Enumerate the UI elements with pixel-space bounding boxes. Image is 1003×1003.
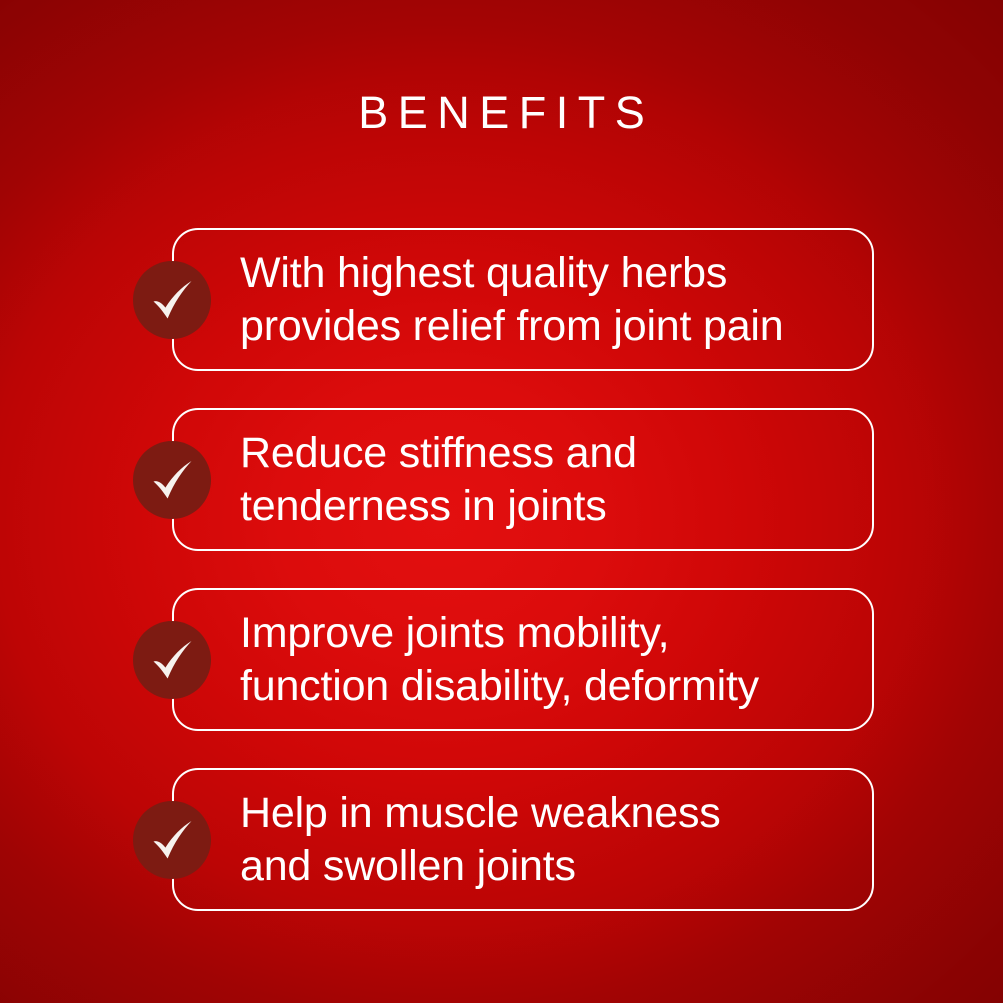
benefit-text: Reduce stiffness and tenderness in joint… bbox=[240, 427, 856, 533]
check-icon bbox=[133, 441, 211, 519]
check-icon bbox=[133, 261, 211, 339]
benefit-text: With highest quality herbs provides reli… bbox=[240, 247, 856, 353]
benefits-list: With highest quality herbs provides reli… bbox=[172, 228, 874, 911]
check-icon bbox=[133, 801, 211, 879]
list-item: With highest quality herbs provides reli… bbox=[172, 228, 874, 371]
benefits-poster: BENEFITS With highest quality herbs prov… bbox=[0, 0, 1003, 1003]
benefit-text: Help in muscle weakness and swollen join… bbox=[240, 787, 856, 893]
list-item: Improve joints mobility, function disabi… bbox=[172, 588, 874, 731]
list-item: Help in muscle weakness and swollen join… bbox=[172, 768, 874, 911]
check-icon bbox=[133, 621, 211, 699]
benefit-text: Improve joints mobility, function disabi… bbox=[240, 607, 856, 713]
page-title: BENEFITS bbox=[0, 90, 1003, 135]
list-item: Reduce stiffness and tenderness in joint… bbox=[172, 408, 874, 551]
